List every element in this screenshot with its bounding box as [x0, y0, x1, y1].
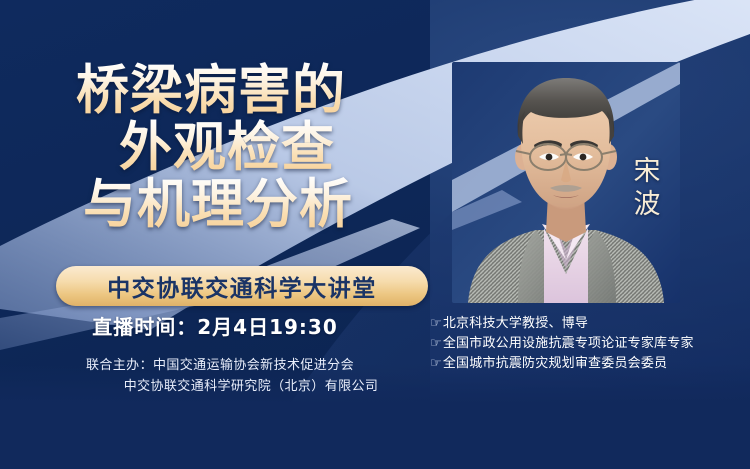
- pointing-hand-icon: ☞: [430, 314, 442, 333]
- credential-item: ☞ 全国市政公用设施抗震专项论证专家库专家: [430, 334, 750, 353]
- organisers-block: 联合主办：中国交通运输协会新技术促进分会 中交协联交通科学研究院（北京）有限公司: [0, 355, 440, 397]
- title-line-1: 桥梁病害的: [0, 62, 430, 119]
- title-line-3: 与机理分析: [6, 176, 430, 233]
- credential-item: ☞ 北京科技大学教授、博导: [430, 314, 750, 333]
- series-banner: 中交协联交通科学大讲堂: [56, 266, 428, 306]
- speaker-name-char-2: 波: [630, 188, 664, 221]
- pointing-hand-icon: ☞: [430, 354, 442, 373]
- speaker-credentials: ☞ 北京科技大学教授、博导 ☞ 全国市政公用设施抗震专项论证专家库专家 ☞ 全国…: [430, 314, 750, 374]
- poster-title: 桥梁病害的 外观检查 与机理分析: [0, 62, 430, 233]
- speaker-name-char-1: 宋: [630, 155, 664, 188]
- credential-item: ☞ 全国城市抗震防灾规划审查委员会委员: [430, 354, 750, 373]
- speaker-name: 宋 波: [630, 155, 664, 221]
- broadcast-time: 直播时间：2月4日19:30: [0, 311, 430, 340]
- organisers-line-2: 中交协联交通科学研究院（北京）有限公司: [0, 376, 440, 397]
- credential-text: 北京科技大学教授、博导: [443, 314, 588, 333]
- credential-text: 全国城市抗震防灾规划审查委员会委员: [443, 354, 667, 373]
- series-banner-label: 中交协联交通科学大讲堂: [107, 269, 377, 303]
- webinar-poster: 桥梁病害的 外观检查 与机理分析 中交协联交通科学大讲堂 直播时间：2月4日19…: [0, 0, 750, 469]
- credential-text: 全国市政公用设施抗震专项论证专家库专家: [443, 334, 694, 353]
- pointing-hand-icon: ☞: [430, 334, 442, 353]
- organisers-line-1: 联合主办：中国交通运输协会新技术促进分会: [0, 355, 440, 376]
- title-line-2: 外观检查: [24, 119, 430, 176]
